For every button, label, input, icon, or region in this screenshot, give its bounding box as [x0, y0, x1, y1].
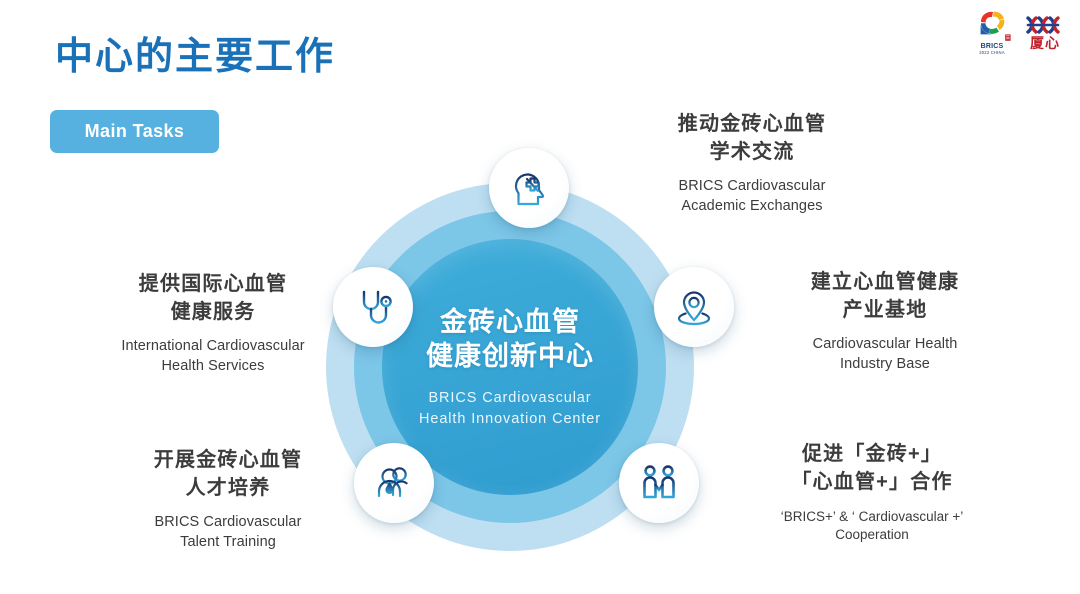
label-en-line1: BRICS Cardiovascular — [612, 176, 892, 196]
node-talent-training[interactable] — [354, 443, 434, 523]
label-en-line2: Industry Base — [746, 354, 1024, 374]
label-en: International Cardiovascular Health Serv… — [58, 336, 368, 376]
xiamen-heart-logo: 厦心 — [1024, 8, 1066, 50]
stethoscope-icon — [351, 285, 395, 329]
label-cn: 提供国际心血管 健康服务 — [58, 270, 368, 327]
label-cn-line2: 学术交流 — [612, 138, 892, 166]
label-en-line2: Academic Exchanges — [612, 196, 892, 216]
label-en-line1: BRICS Cardiovascular — [78, 512, 378, 532]
label-cn-line1: 提供国际心血管 — [58, 270, 368, 298]
node-cooperation[interactable] — [619, 443, 699, 523]
label-cn-line2: 产业基地 — [746, 296, 1024, 324]
label-cn-line2: 健康服务 — [58, 298, 368, 326]
node-industry-base[interactable] — [654, 267, 734, 347]
label-en-line2: Cooperation — [722, 526, 1022, 545]
label-en: Cardiovascular Health Industry Base — [746, 334, 1024, 374]
brics-logo-subcaption: 2022 CHINA — [979, 50, 1005, 55]
label-industry-base: 建立心血管健康 产业基地 Cardiovascular Health Indus… — [746, 268, 1024, 374]
center-title-en-line1: BRICS Cardiovascular — [419, 388, 601, 409]
xiamen-heart-logo-caption: 厦心 — [1030, 36, 1060, 50]
label-academic-exchanges: 推动金砖心血管 学术交流 BRICS Cardiovascular Academ… — [612, 110, 892, 216]
handshake-people-icon — [637, 461, 681, 505]
center-title-en: BRICS Cardiovascular Health Innovation C… — [419, 388, 601, 429]
page-title: 中心的主要工作 — [55, 38, 335, 76]
center-title-cn: 金砖心血管 健康创新中心 — [426, 305, 594, 374]
label-en: ‘BRICS+’ & ‘ Cardiovascular +’ Cooperati… — [722, 508, 1022, 545]
label-cn: 推动金砖心血管 学术交流 — [612, 110, 892, 167]
center-title-cn-line2: 健康创新中心 — [426, 339, 594, 374]
label-en-line2: Talent Training — [78, 532, 378, 552]
brics-logo: BRICS 2022 CHINA — [972, 8, 1012, 55]
logo-bar: BRICS 2022 CHINA 厦心 — [972, 8, 1066, 55]
label-cn-line2: 人才培养 — [78, 474, 378, 502]
label-en-line1: Cardiovascular Health — [746, 334, 1024, 354]
head-medical-cross-icon — [507, 166, 551, 210]
label-cn: 开展金砖心血管 人才培养 — [78, 446, 378, 503]
label-cn-line1: 建立心血管健康 — [746, 268, 1024, 296]
label-cn-line1: 促进「金砖+」 — [722, 440, 1022, 468]
label-en: BRICS Cardiovascular Talent Training — [78, 512, 378, 552]
people-group-icon — [372, 461, 416, 505]
brics-logo-caption: BRICS — [981, 43, 1004, 50]
label-cn: 建立心血管健康 产业基地 — [746, 268, 1024, 325]
label-health-services: 提供国际心血管 健康服务 International Cardiovascula… — [58, 270, 368, 376]
label-en-line1: International Cardiovascular — [58, 336, 368, 356]
label-cn-line1: 开展金砖心血管 — [78, 446, 378, 474]
xiamen-heart-emblem-icon — [1024, 14, 1066, 36]
label-cn-line1: 推动金砖心血管 — [612, 110, 892, 138]
label-en-line1: ‘BRICS+’ & ‘ Cardiovascular +’ — [722, 508, 1022, 527]
label-cooperation: 促进「金砖+」 「心血管+」合作 ‘BRICS+’ & ‘ Cardiovasc… — [722, 440, 1022, 545]
label-talent-training: 开展金砖心血管 人才培养 BRICS Cardiovascular Talent… — [78, 446, 378, 552]
center-title-cn-line1: 金砖心血管 — [426, 305, 594, 340]
brics-emblem-icon — [972, 8, 1012, 42]
location-pin-icon — [672, 285, 716, 329]
center-title-en-line2: Health Innovation Center — [419, 409, 601, 430]
label-en-line2: Health Services — [58, 356, 368, 376]
node-academic-exchanges[interactable] — [489, 148, 569, 228]
label-en: BRICS Cardiovascular Academic Exchanges — [612, 176, 892, 216]
main-tasks-badge-label: Main Tasks — [85, 121, 185, 142]
label-cn: 促进「金砖+」 「心血管+」合作 — [722, 440, 1022, 497]
node-health-services[interactable] — [333, 267, 413, 347]
label-cn-line2: 「心血管+」合作 — [722, 468, 1022, 496]
main-tasks-badge: Main Tasks — [50, 110, 219, 153]
